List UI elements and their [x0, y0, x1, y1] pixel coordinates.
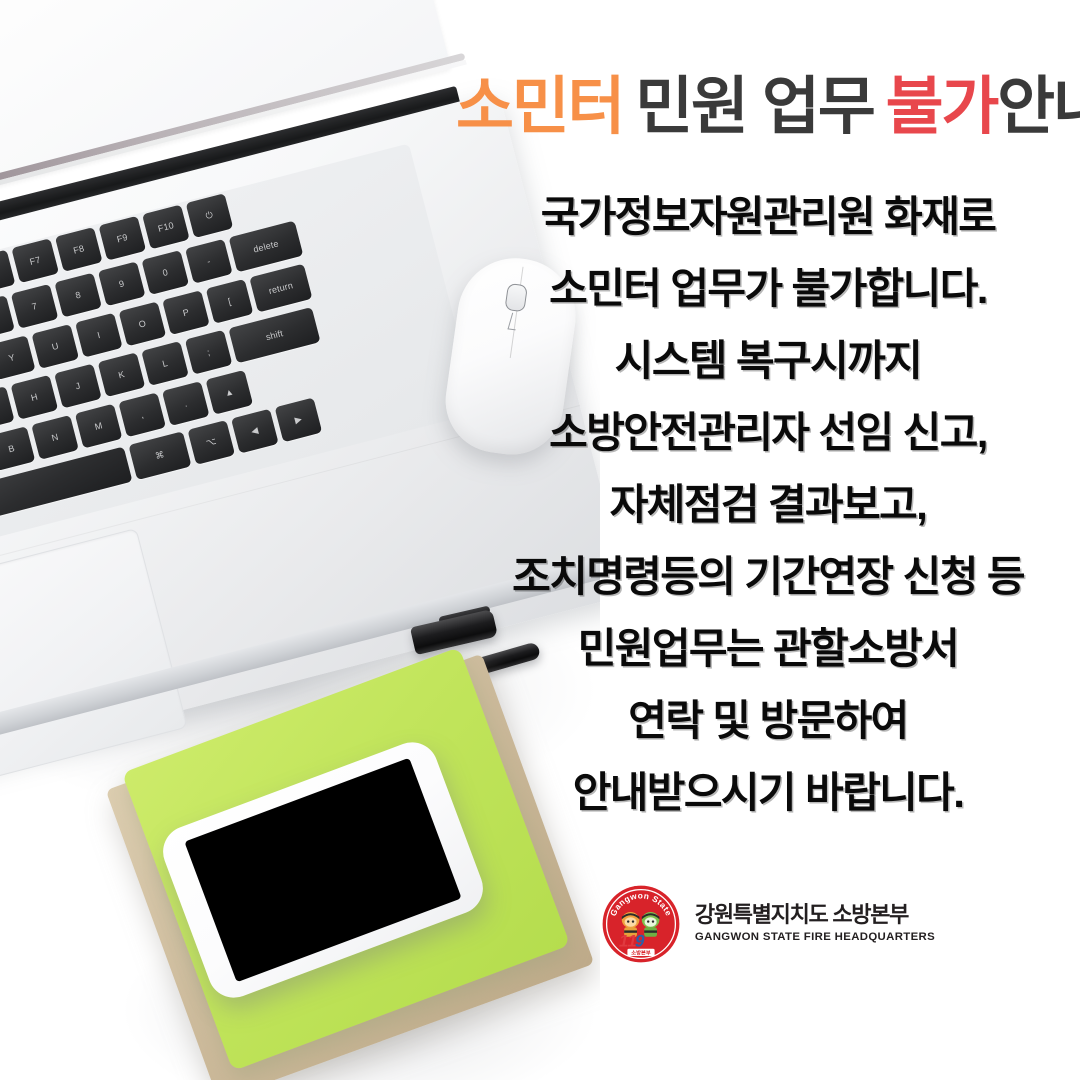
- title-segment-unavailable: 불가: [886, 72, 998, 142]
- title-segment-civil-service: 민원 업무: [635, 72, 873, 142]
- key-i[interactable]: I: [75, 313, 123, 358]
- key[interactable]: ;: [185, 330, 233, 375]
- key-n[interactable]: N: [31, 415, 79, 460]
- key-option-right[interactable]: ⌥: [187, 420, 235, 465]
- body-line: 조치명령등의 기간연장 신청 등: [456, 556, 1080, 598]
- poster-canvas: esc F1 F2 F3 F4 F5 F6 F7 F8 F9 F10 ⏻ ~ 1…: [0, 0, 1080, 1080]
- notice-content: 소민터민원 업무불가안내 국가정보자원관리원 화재로 소민터 업무가 불가합니다…: [456, 0, 1080, 1080]
- key-o[interactable]: O: [119, 301, 167, 346]
- key-l[interactable]: L: [141, 341, 189, 386]
- title-segment-notice: 안내: [997, 72, 1080, 142]
- key-arrow-left[interactable]: ◀: [231, 409, 279, 454]
- body-line: 소민터 업무가 불가합니다.: [456, 268, 1080, 310]
- body-line: 민원업무는 관할소방서: [456, 628, 1080, 670]
- key-arrow-right[interactable]: ▶: [275, 397, 323, 442]
- title-segment-somintor: 소민터: [456, 72, 623, 142]
- key-m[interactable]: M: [75, 404, 123, 449]
- key-h[interactable]: H: [10, 375, 58, 420]
- key[interactable]: 9: [98, 261, 146, 306]
- body-line: 국가정보자원관리원 화재로: [456, 196, 1080, 238]
- key-arrow-up[interactable]: ▲: [205, 370, 253, 415]
- logo-organization-en: GANGWON STATE FIRE HEADQUARTERS: [695, 932, 935, 943]
- notice-body: 국가정보자원관리원 화재로 소민터 업무가 불가합니다. 시스템 복구시까지 소…: [456, 196, 1080, 844]
- organization-logo: Gangwon State: [456, 884, 1080, 964]
- key-y[interactable]: Y: [0, 335, 36, 380]
- key-j[interactable]: J: [54, 364, 102, 409]
- body-line: 시스템 복구시까지: [456, 340, 1080, 382]
- key-p[interactable]: P: [162, 290, 210, 335]
- key[interactable]: ,: [118, 392, 166, 437]
- key[interactable]: .: [162, 381, 210, 426]
- key[interactable]: 8: [54, 273, 102, 318]
- key-k[interactable]: K: [98, 352, 146, 397]
- logo-text-block: 강원특별지치도 소방본부 GANGWON STATE FIRE HEADQUAR…: [695, 904, 935, 943]
- key[interactable]: [: [206, 279, 254, 324]
- gangwon-fire-emblem-icon: Gangwon State: [601, 884, 681, 964]
- body-line: 연락 및 방문하여: [456, 700, 1080, 742]
- body-line: 자체점검 결과보고,: [456, 484, 1080, 526]
- page-title: 소민터민원 업무불가안내: [456, 74, 1080, 140]
- key[interactable]: 7: [11, 284, 59, 329]
- key-return[interactable]: return: [249, 264, 312, 313]
- key-delete[interactable]: delete: [229, 221, 304, 273]
- key-command-right[interactable]: ⌘: [128, 431, 191, 480]
- logo-organization-ko: 강원특별지치도 소방본부: [695, 904, 935, 926]
- body-line: 소방안전관리자 선임 신고,: [456, 412, 1080, 454]
- key[interactable]: -: [185, 239, 233, 284]
- key-b[interactable]: B: [0, 426, 35, 471]
- body-line: 안내받으시기 바랍니다.: [456, 772, 1080, 814]
- key-u[interactable]: U: [31, 324, 79, 369]
- key[interactable]: 0: [141, 250, 189, 295]
